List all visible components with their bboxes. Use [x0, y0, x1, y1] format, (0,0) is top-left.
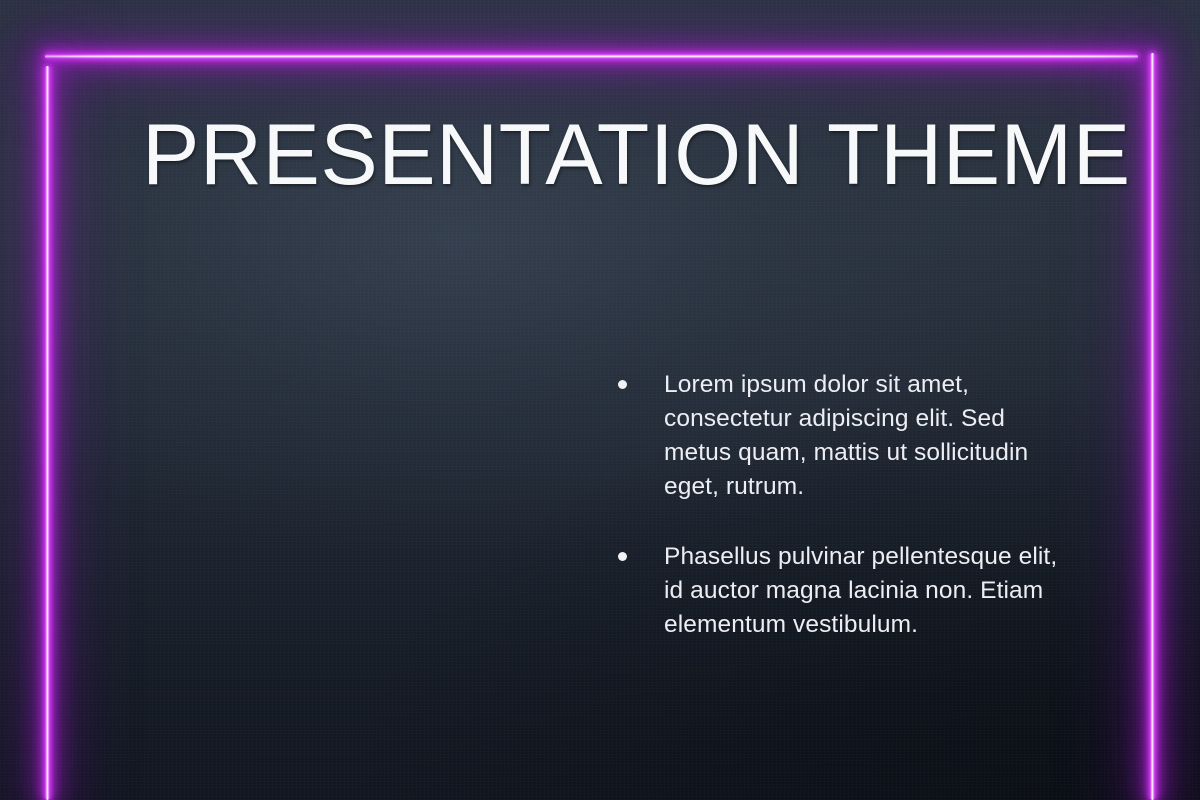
list-item: Phasellus pulvinar pellentesque elit, id… [618, 540, 1063, 642]
bullet-dot-icon [618, 552, 627, 561]
bullet-text: Lorem ipsum dolor sit amet, consectetur … [664, 368, 1063, 504]
slide-title: PRESENTATION THEME [142, 112, 1072, 198]
neon-right-vertical-line [1150, 53, 1155, 800]
neon-top-horizontal-line [45, 54, 1138, 59]
bullet-dot-icon [618, 380, 627, 389]
presentation-slide: PRESENTATION THEME Lorem ipsum dolor sit… [0, 0, 1200, 800]
list-item: Lorem ipsum dolor sit amet, consectetur … [618, 368, 1063, 504]
neon-left-vertical-line [45, 66, 50, 800]
bullet-text: Phasellus pulvinar pellentesque elit, id… [664, 540, 1063, 642]
slide-body-bullet-list: Lorem ipsum dolor sit amet, consectetur … [618, 368, 1063, 642]
